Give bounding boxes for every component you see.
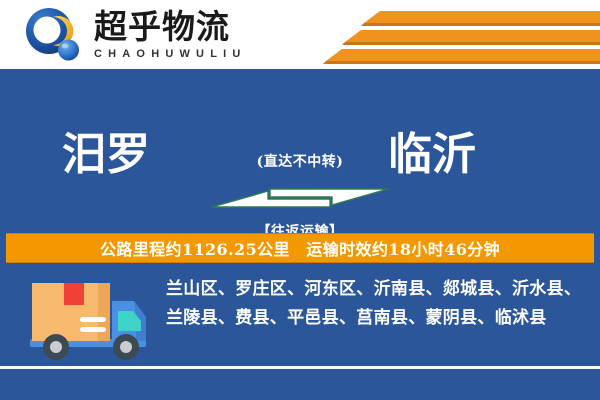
brand-pinyin: CHAOHUWULIU: [94, 46, 284, 62]
distance-duration-text: 公路里程约1126.25公里 运输时效约18小时46分钟: [100, 236, 500, 260]
route-middle: (直达不中转) 【往返运输】: [210, 109, 390, 219]
brand-name: 超乎物流: [94, 8, 284, 46]
delivery-truck-icon: [22, 275, 154, 367]
route-panel: 汨罗 临沂 (直达不中转) 【往返运输】 公路里程约1126.25公里 运输时效…: [0, 69, 600, 400]
banner-header: 超乎物流 CHAOHUWULIU: [0, 0, 600, 69]
direct-service-label: (直达不中转): [210, 151, 390, 171]
speed-stripes-icon: [320, 0, 600, 69]
district-line: 兰山区、罗庄区、河东区、沂南县、郯城县、沂水县、: [166, 275, 586, 304]
district-line: 兰陵县、费县、平邑县、莒南县、蒙阴县、临沭县: [166, 304, 586, 333]
distance-duration-bar: 公路里程约1126.25公里 运输时效约18小时46分钟: [6, 233, 594, 263]
origin-city: 汨罗: [62, 127, 150, 183]
district-list: 兰山区、罗庄区、河东区、沂南县、郯城县、沂水县、 兰陵县、费县、平邑县、莒南县、…: [166, 275, 586, 333]
chaohu-q-logo-icon: [22, 7, 84, 65]
coverage-area: 兰山区、罗庄区、河东区、沂南县、郯城县、沂水县、 兰陵县、费县、平邑县、莒南县、…: [0, 269, 600, 379]
double-arrow-icon: [212, 181, 388, 215]
brand-block: 超乎物流 CHAOHUWULIU: [94, 8, 284, 66]
bottom-divider: [0, 366, 600, 369]
route-row: 汨罗 临沂 (直达不中转) 【往返运输】: [0, 109, 600, 219]
logistics-route-banner: 超乎物流 CHAOHUWULIU 汨罗 临沂 (直达不中转): [0, 0, 600, 400]
destination-city: 临沂: [388, 127, 476, 183]
